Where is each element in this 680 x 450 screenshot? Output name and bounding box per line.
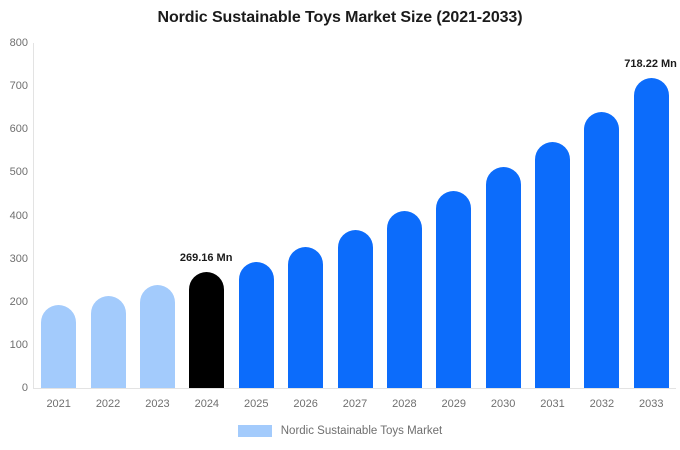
bar-2032[interactable] xyxy=(584,112,619,388)
chart-container: Nordic Sustainable Toys Market Size (202… xyxy=(0,0,680,450)
x-tick-label-2026: 2026 xyxy=(281,398,330,410)
bar-2023[interactable] xyxy=(140,285,175,388)
bar-2025[interactable] xyxy=(239,262,274,388)
x-tick-label-2024: 2024 xyxy=(182,398,231,410)
x-tick-label-2028: 2028 xyxy=(380,398,429,410)
bar-2024[interactable] xyxy=(189,272,224,388)
bar-2031[interactable] xyxy=(535,142,570,388)
x-axis-tick-labels: 2021202220232024202520262027202820292030… xyxy=(34,398,676,414)
y-tick-label: 0 xyxy=(2,382,28,394)
x-axis-line xyxy=(33,388,676,389)
x-tick-label-2030: 2030 xyxy=(478,398,527,410)
bar-value-label-2033: 718.22 Mn xyxy=(624,58,677,70)
chart-title: Nordic Sustainable Toys Market Size (202… xyxy=(0,9,680,27)
x-tick-label-2031: 2031 xyxy=(528,398,577,410)
y-tick-label: 600 xyxy=(2,123,28,135)
y-tick-label: 200 xyxy=(2,296,28,308)
x-tick-label-2021: 2021 xyxy=(34,398,83,410)
y-tick-label: 700 xyxy=(2,80,28,92)
bar-value-label-2024: 269.16 Mn xyxy=(180,252,233,264)
bar-series: 269.16 Mn718.22 Mn xyxy=(34,43,676,388)
legend-swatch-nordic-sustainable-toys-market xyxy=(238,425,272,437)
y-tick-label: 800 xyxy=(2,37,28,49)
y-tick-label: 100 xyxy=(2,339,28,351)
x-tick-label-2022: 2022 xyxy=(83,398,132,410)
bar-2029[interactable] xyxy=(436,191,471,388)
x-tick-label-2023: 2023 xyxy=(133,398,182,410)
x-tick-label-2025: 2025 xyxy=(232,398,281,410)
bar-2030[interactable] xyxy=(486,167,521,388)
bar-2022[interactable] xyxy=(91,296,126,388)
bar-2028[interactable] xyxy=(387,211,422,388)
bar-2026[interactable] xyxy=(288,247,323,388)
x-tick-label-2033: 2033 xyxy=(627,398,676,410)
y-tick-label: 300 xyxy=(2,253,28,265)
x-tick-label-2029: 2029 xyxy=(429,398,478,410)
y-axis-tick-labels: 0100200300400500600700800 xyxy=(0,0,28,450)
bar-2027[interactable] xyxy=(338,230,373,388)
bar-2021[interactable] xyxy=(41,305,76,388)
bar-2033[interactable] xyxy=(634,78,669,388)
x-tick-label-2032: 2032 xyxy=(577,398,626,410)
x-tick-label-2027: 2027 xyxy=(330,398,379,410)
legend-label-nordic-sustainable-toys-market: Nordic Sustainable Toys Market xyxy=(281,425,443,437)
chart-legend: Nordic Sustainable Toys Market xyxy=(0,425,680,437)
y-tick-label: 500 xyxy=(2,166,28,178)
y-tick-label: 400 xyxy=(2,210,28,222)
